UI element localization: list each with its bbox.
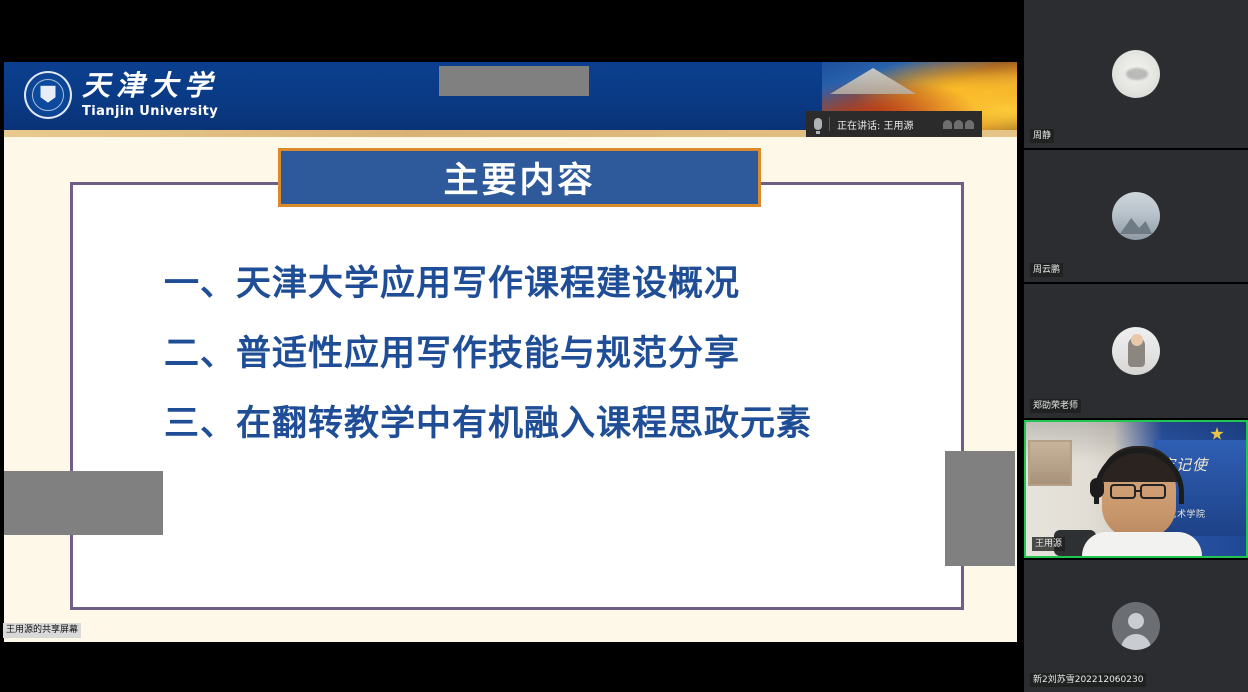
participant-tile-4-active-speaker[interactable]: 牢记使 文艺术学院 王用源 [1024,420,1248,558]
redaction-bottom-right [945,451,1015,566]
banner-roof-shape [830,68,916,94]
university-logo: 天津大学 Tianjin University [24,71,218,119]
shared-screen-stage[interactable]: 天津大学 Tianjin University 主要内容 一、天津大学应用写作课… [0,0,1020,692]
redaction-banner [439,66,589,96]
bullet-item-3: 三、在翻转教学中有机融入课程思政元素 [164,407,944,442]
presentation-slide: 天津大学 Tianjin University 主要内容 一、天津大学应用写作课… [4,62,1017,642]
participant-name-1: 周静 [1030,129,1054,143]
microphone-icon [814,118,822,130]
participant-filmstrip[interactable]: 周静 周云鹏 郑劭荣老师 牢记使 文艺术学院 [1024,0,1248,692]
person-avatar [1112,602,1160,650]
university-logo-text: 天津大学 Tianjin University [82,72,218,118]
participant-tile-2[interactable]: 周云鹏 [1024,150,1248,282]
bullet-item-2: 二、普适性应用写作技能与规范分享 [164,337,944,372]
university-name-cn: 天津大学 [82,72,218,100]
share-screen-label: 王用源的共享屏幕 [3,623,81,638]
participant-tile-3[interactable]: 郑劭荣老师 [1024,284,1248,418]
pill-divider [829,117,830,131]
university-name-en: Tianjin University [82,105,218,118]
slide-title: 主要内容 [443,152,595,203]
participant-name-5: 新2刘苏雪202212060230 [1030,673,1146,687]
headset-earcup [1090,478,1104,498]
speaker-body [1082,532,1202,556]
video-feed: 牢记使 文艺术学院 [1026,422,1246,556]
glasses-right-lens [1140,484,1166,499]
bullet-item-1: 一、天津大学应用写作课程建设概况 [164,267,944,302]
glasses-left-lens [1110,484,1136,499]
slide-bullet-list: 一、天津大学应用写作课程建设概况 二、普适性应用写作技能与规范分享 三、在翻转教… [164,267,944,477]
emblem-icon [1210,427,1224,441]
slide-title-plate: 主要内容 [278,148,761,207]
baby-avatar [1112,327,1160,375]
participant-name-4: 王用源 [1032,537,1065,551]
university-seal-icon [24,71,72,119]
moon-avatar [1112,50,1160,98]
redaction-bottom-left [4,471,163,535]
sound-wave-icon [943,120,974,129]
active-speaker-indicator: 正在讲话: 王用源 [806,111,982,137]
glasses-bridge [1135,490,1142,492]
participant-name-2: 周云鹏 [1030,263,1063,277]
scenic-avatar [1112,192,1160,240]
zoom-meeting-window: 天津大学 Tianjin University 主要内容 一、天津大学应用写作课… [0,0,1248,692]
participant-tile-5[interactable]: 新2刘苏雪202212060230 [1024,560,1248,692]
participant-name-3: 郑劭荣老师 [1030,399,1081,413]
shelf-object [1028,440,1072,486]
participant-tile-1[interactable]: 周静 [1024,0,1248,148]
active-speaker-text: 正在讲话: 王用源 [837,117,914,132]
